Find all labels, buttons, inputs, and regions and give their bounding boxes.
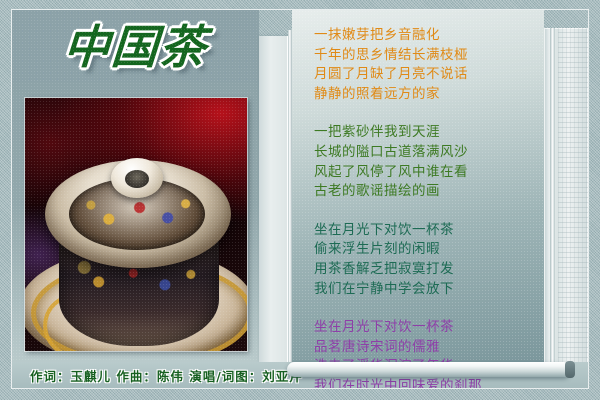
lyrics-stanza: 一把紫砂伴我到天涯长城的隘口古道落满风沙风起了风停了风中谁在看古老的歌谣描绘的画 (314, 123, 534, 201)
tea-poster: 中国茶 一抹嫩芽把乡音融化千年的思乡情结长满枝桠月圆了月缺了月亮不说话静静的照着… (0, 0, 600, 400)
lyrics-line: 品茗唐诗宋词的儒雅 (314, 338, 534, 358)
lyrics-panel: 一抹嫩芽把乡音融化千年的思乡情结长满枝桠月圆了月缺了月亮不说话静静的照着远方的家… (292, 10, 544, 362)
lyrics-line: 用茶香解乏把寂寞打发 (314, 260, 534, 280)
saucer-shape (25, 248, 247, 351)
right-scroll-strip (544, 28, 588, 368)
lyrics-line: 偷来浮生片刻的闲暇 (314, 240, 534, 260)
left-panel: 中国茶 (12, 10, 259, 362)
scroll-rod (287, 362, 571, 377)
middle-panel (259, 36, 288, 362)
lyrics-line: 坐在月光下对饮一杯茶 (314, 318, 534, 338)
lyrics-text: 一抹嫩芽把乡音融化千年的思乡情结长满枝桠月圆了月缺了月亮不说话静静的照着远方的家… (314, 26, 534, 388)
saucer-decoration (35, 285, 118, 351)
lyrics-line: 月圆了月缺了月亮不说话 (314, 65, 534, 85)
strip-texture (558, 28, 588, 368)
lyrics-line: 坐在月光下对饮一杯茶 (314, 221, 534, 241)
lyrics-line: 我们在时光中回味爱的刹那 (314, 377, 534, 388)
lyrics-line: 风起了风停了风中谁在看 (314, 163, 534, 183)
title-band (12, 10, 259, 82)
saucer-gold-rim (31, 260, 247, 351)
cup-body (59, 216, 219, 346)
poster-card: 中国茶 一抹嫩芽把乡音融化千年的思乡情结长满枝桠月圆了月缺了月亮不说话静静的照着… (12, 10, 588, 388)
lyrics-line: 一抹嫩芽把乡音融化 (314, 26, 534, 46)
lyrics-line: 我们在宁静中学会放下 (314, 280, 534, 300)
lyrics-stanza: 坐在月光下对饮一杯茶品茗唐诗宋词的儒雅洗去了浮华沉淀了年华我们在时光中回味爱的刹… (314, 318, 534, 388)
lid-painted-ring (69, 178, 205, 250)
lyrics-line: 静静的照着远方的家 (314, 85, 534, 105)
lyrics-line: 古老的歌谣描绘的画 (314, 182, 534, 202)
lyrics-line: 一把紫砂伴我到天涯 (314, 123, 534, 143)
teacup-photo-frame (25, 98, 247, 351)
teacup-photo (25, 98, 247, 351)
cup-lid (45, 160, 231, 268)
credits-line: 作词：玉麒儿 作曲：陈伟 演唱/词图：刘亚芹 (30, 366, 303, 385)
strip-groove (550, 28, 555, 368)
scroll-rod-cap (565, 361, 575, 378)
lyrics-line: 长城的隘口古道落满风沙 (314, 143, 534, 163)
lid-knob (111, 158, 163, 198)
lyrics-stanza: 坐在月光下对饮一杯茶偷来浮生片刻的闲暇用茶香解乏把寂寞打发我们在宁静中学会放下 (314, 221, 534, 299)
lyrics-line: 千年的思乡情结长满枝桠 (314, 46, 534, 66)
lyrics-stanza: 一抹嫩芽把乡音融化千年的思乡情结长满枝桠月圆了月缺了月亮不说话静静的照着远方的家 (314, 26, 534, 104)
poster-title: 中国茶 (12, 18, 261, 76)
